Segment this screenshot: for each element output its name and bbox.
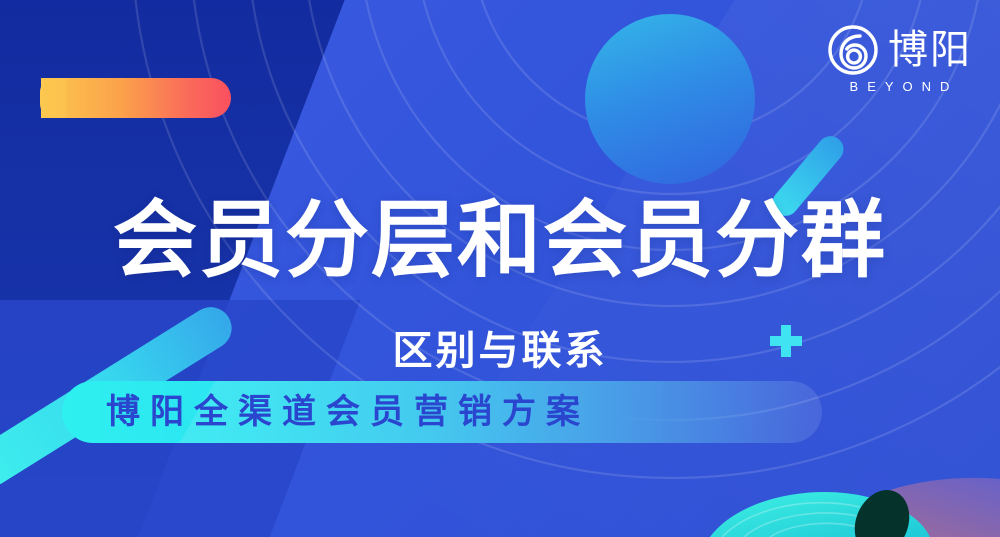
page-title: 会员分层和会员分群 [0,198,1000,282]
blue-gradient-circle [585,14,755,184]
bottom-right-decor [700,447,1000,537]
beyond-circle-logo-icon [827,24,879,76]
orange-gradient-pill [41,78,231,118]
logo-chinese-name: 博阳 [888,30,972,70]
page-subtitle: 区别与联系 [0,331,1000,371]
brand-logo: 博阳 BEYOND [827,24,972,93]
poster-canvas: 博阳 BEYOND 会员分层和会员分群 区别与联系 博阳全渠道会员营销方案 [0,0,1000,537]
banner-label: 博阳全渠道会员营销方案 [106,395,590,429]
logo-row: 博阳 [827,24,972,76]
solution-banner: 博阳全渠道会员营销方案 [62,381,822,443]
logo-english-name: BEYOND [841,80,959,93]
